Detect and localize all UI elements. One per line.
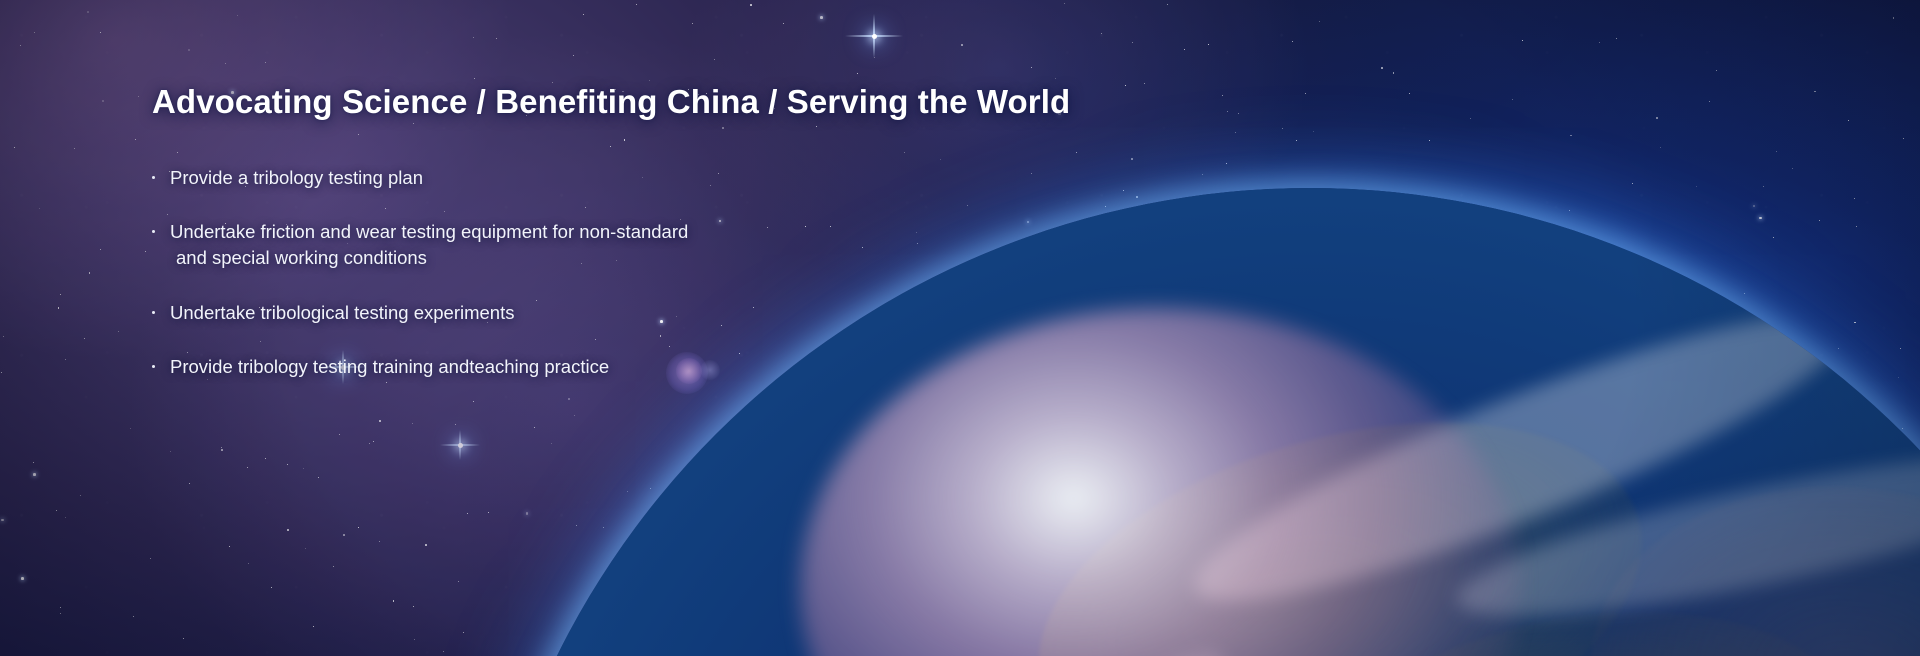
star-icon xyxy=(1222,95,1223,96)
star-icon xyxy=(1792,168,1793,169)
star-icon xyxy=(313,626,314,627)
star-icon xyxy=(1522,40,1523,41)
star-icon xyxy=(287,529,289,531)
star-icon xyxy=(1409,93,1410,94)
star-icon xyxy=(726,431,727,432)
bullet-dot-icon xyxy=(152,365,155,368)
cloud-band xyxy=(1447,425,1920,648)
bullet-dot-icon xyxy=(152,176,155,179)
star-icon xyxy=(58,307,60,309)
star-icon xyxy=(467,513,468,514)
landmass xyxy=(997,359,1684,656)
star-icon xyxy=(1763,186,1764,187)
star-icon xyxy=(1569,210,1570,211)
star-icon xyxy=(1227,111,1228,112)
star-icon xyxy=(1313,131,1314,132)
star-icon xyxy=(303,468,304,469)
banner-headline: Advocating Science / Benefiting China / … xyxy=(152,84,1052,121)
bullet-dot-icon xyxy=(152,311,155,314)
star-icon xyxy=(1238,113,1239,114)
star-icon xyxy=(874,57,875,58)
star-icon xyxy=(150,558,151,559)
star-icon xyxy=(74,148,75,149)
star-icon xyxy=(287,464,288,465)
star-icon xyxy=(34,32,35,33)
star-icon xyxy=(1319,21,1320,22)
star-icon xyxy=(333,566,334,567)
star-icon xyxy=(1031,67,1032,68)
star-icon xyxy=(414,639,415,640)
star-icon xyxy=(138,96,139,97)
list-item-line-1: Provide tribology testing training andte… xyxy=(170,356,609,377)
star-icon xyxy=(60,613,62,615)
star-icon xyxy=(20,45,21,46)
star-icon xyxy=(1616,38,1617,39)
star-icon xyxy=(1709,101,1710,102)
list-item: Provide tribology testing training andte… xyxy=(152,354,870,380)
star-icon xyxy=(1856,226,1857,227)
star-icon xyxy=(1055,78,1056,79)
star-icon xyxy=(1819,220,1821,222)
star-icon xyxy=(1282,128,1283,129)
star-icon xyxy=(1599,42,1600,43)
star-icon xyxy=(583,14,584,15)
star-icon xyxy=(1208,44,1209,45)
star-icon xyxy=(1105,206,1106,207)
star-icon xyxy=(1131,158,1133,160)
star-icon xyxy=(1854,198,1855,199)
star-icon xyxy=(133,616,134,617)
star-icon xyxy=(3,336,4,337)
bright-star-icon xyxy=(845,14,903,58)
star-icon xyxy=(100,249,101,250)
star-icon xyxy=(135,139,136,140)
star-icon xyxy=(526,512,529,515)
star-icon xyxy=(1123,190,1124,191)
list-item-line-2: and special working conditions xyxy=(170,245,870,271)
star-icon xyxy=(100,32,101,33)
star-icon xyxy=(1898,377,1899,378)
star-icon xyxy=(379,420,381,422)
star-icon xyxy=(627,491,628,492)
star-icon xyxy=(1202,174,1203,175)
star-icon xyxy=(534,427,535,428)
star-icon xyxy=(33,462,34,463)
star-icon xyxy=(692,23,693,24)
star-icon xyxy=(102,100,104,102)
star-icon xyxy=(1292,41,1293,42)
list-item: Undertake friction and wear testing equi… xyxy=(152,219,870,272)
star-icon xyxy=(413,606,414,607)
star-icon xyxy=(783,23,784,24)
star-icon xyxy=(56,510,57,511)
list-item-line-1: Undertake friction and wear testing equi… xyxy=(170,221,688,242)
star-icon xyxy=(496,38,497,39)
star-icon xyxy=(80,495,81,496)
star-icon xyxy=(33,473,36,476)
star-icon xyxy=(1759,217,1762,220)
star-icon xyxy=(857,73,858,74)
star-icon xyxy=(14,147,15,148)
star-icon xyxy=(265,62,266,63)
star-icon xyxy=(574,415,575,416)
star-icon xyxy=(343,534,345,536)
landmass xyxy=(1572,462,1920,656)
star-icon xyxy=(1235,132,1236,133)
star-icon xyxy=(576,525,577,526)
list-item: Undertake tribological testing experimen… xyxy=(152,300,870,326)
star-icon xyxy=(961,44,963,46)
star-icon xyxy=(379,541,380,542)
star-icon xyxy=(1660,147,1661,148)
star-icon xyxy=(603,527,604,528)
star-icon xyxy=(1744,293,1745,294)
star-icon xyxy=(237,15,238,16)
star-icon xyxy=(65,359,66,360)
star-icon xyxy=(393,600,395,602)
star-icon xyxy=(21,577,24,580)
star-icon xyxy=(1064,3,1065,4)
star-icon xyxy=(221,447,222,448)
star-icon xyxy=(1,519,4,522)
star-icon xyxy=(1848,120,1849,121)
star-icon xyxy=(1773,237,1774,238)
star-icon xyxy=(1696,186,1697,187)
star-icon xyxy=(1776,151,1777,152)
star-icon xyxy=(221,449,223,451)
star-icon xyxy=(463,632,464,633)
star-icon xyxy=(636,4,637,5)
star-icon xyxy=(305,548,306,549)
star-icon xyxy=(412,423,413,424)
bright-star-icon xyxy=(440,430,480,460)
cloud-band xyxy=(1173,271,1867,644)
star-icon xyxy=(1,372,2,373)
star-icon xyxy=(89,272,91,274)
star-icon xyxy=(1296,140,1297,141)
star-icon xyxy=(1645,262,1646,263)
star-icon xyxy=(1900,348,1901,349)
star-icon xyxy=(1167,4,1168,5)
star-icon xyxy=(573,55,574,56)
star-icon xyxy=(369,443,370,444)
star-icon xyxy=(1893,17,1895,19)
star-icon xyxy=(1512,99,1513,100)
star-icon xyxy=(1632,183,1633,184)
star-icon xyxy=(474,78,475,79)
star-icon xyxy=(1144,83,1145,84)
star-icon xyxy=(60,294,61,295)
bullet-dot-icon xyxy=(152,230,155,233)
star-icon xyxy=(87,11,89,13)
star-icon xyxy=(820,16,823,19)
banner-content: Advocating Science / Benefiting China / … xyxy=(152,84,1052,380)
star-icon xyxy=(425,544,427,546)
star-icon xyxy=(473,401,475,403)
star-icon xyxy=(1184,49,1185,50)
banner-bullet-list: Provide a tribology testing plan Underta… xyxy=(152,165,1052,380)
star-icon xyxy=(1570,135,1572,137)
list-item: Provide a tribology testing plan xyxy=(152,165,870,191)
star-icon xyxy=(1125,85,1126,86)
star-icon xyxy=(1381,67,1383,69)
star-icon xyxy=(247,467,248,468)
star-icon xyxy=(1136,196,1138,198)
star-icon xyxy=(339,434,340,435)
star-icon xyxy=(373,441,374,442)
star-icon xyxy=(1814,91,1816,93)
star-icon xyxy=(1656,117,1658,119)
star-icon xyxy=(1393,72,1395,74)
star-icon xyxy=(118,331,119,332)
star-icon xyxy=(458,581,459,582)
cloud-band xyxy=(870,624,1250,656)
star-icon xyxy=(1305,93,1306,94)
star-icon xyxy=(1902,428,1903,429)
star-icon xyxy=(1838,348,1839,349)
star-icon xyxy=(488,512,489,513)
star-icon xyxy=(650,488,651,489)
list-item-line-1: Undertake tribological testing experimen… xyxy=(170,302,514,323)
star-icon xyxy=(225,63,226,64)
star-icon xyxy=(145,251,146,252)
star-icon xyxy=(60,607,61,608)
star-icon xyxy=(1226,163,1227,164)
star-icon xyxy=(443,651,444,652)
star-icon xyxy=(1076,152,1077,153)
star-icon xyxy=(1429,140,1430,141)
star-icon xyxy=(551,443,552,444)
star-icon xyxy=(1101,33,1102,34)
list-item-line-1: Provide a tribology testing plan xyxy=(170,167,423,188)
hero-banner: Advocating Science / Benefiting China / … xyxy=(0,0,1920,656)
star-icon xyxy=(473,37,474,38)
star-icon xyxy=(1470,118,1471,119)
landmass xyxy=(1278,572,1882,656)
star-icon xyxy=(358,527,359,528)
star-icon xyxy=(1716,70,1717,71)
star-icon xyxy=(1854,322,1856,324)
star-icon xyxy=(1753,205,1756,208)
star-icon xyxy=(455,424,456,425)
star-icon xyxy=(248,563,249,564)
star-icon xyxy=(386,382,387,383)
star-icon xyxy=(39,208,40,209)
star-icon xyxy=(318,477,319,478)
star-icon xyxy=(183,638,184,639)
star-icon xyxy=(84,338,85,339)
star-icon xyxy=(714,59,715,60)
star-icon xyxy=(189,483,190,484)
star-icon xyxy=(65,517,66,518)
star-icon xyxy=(1903,138,1904,139)
star-icon xyxy=(130,428,131,429)
star-icon xyxy=(170,451,171,452)
star-icon xyxy=(568,398,570,400)
star-icon xyxy=(649,80,650,81)
star-icon xyxy=(188,49,190,51)
star-icon xyxy=(750,4,752,6)
star-icon xyxy=(271,587,272,588)
star-icon xyxy=(1132,42,1133,43)
star-icon xyxy=(265,458,266,459)
star-icon xyxy=(229,546,230,547)
